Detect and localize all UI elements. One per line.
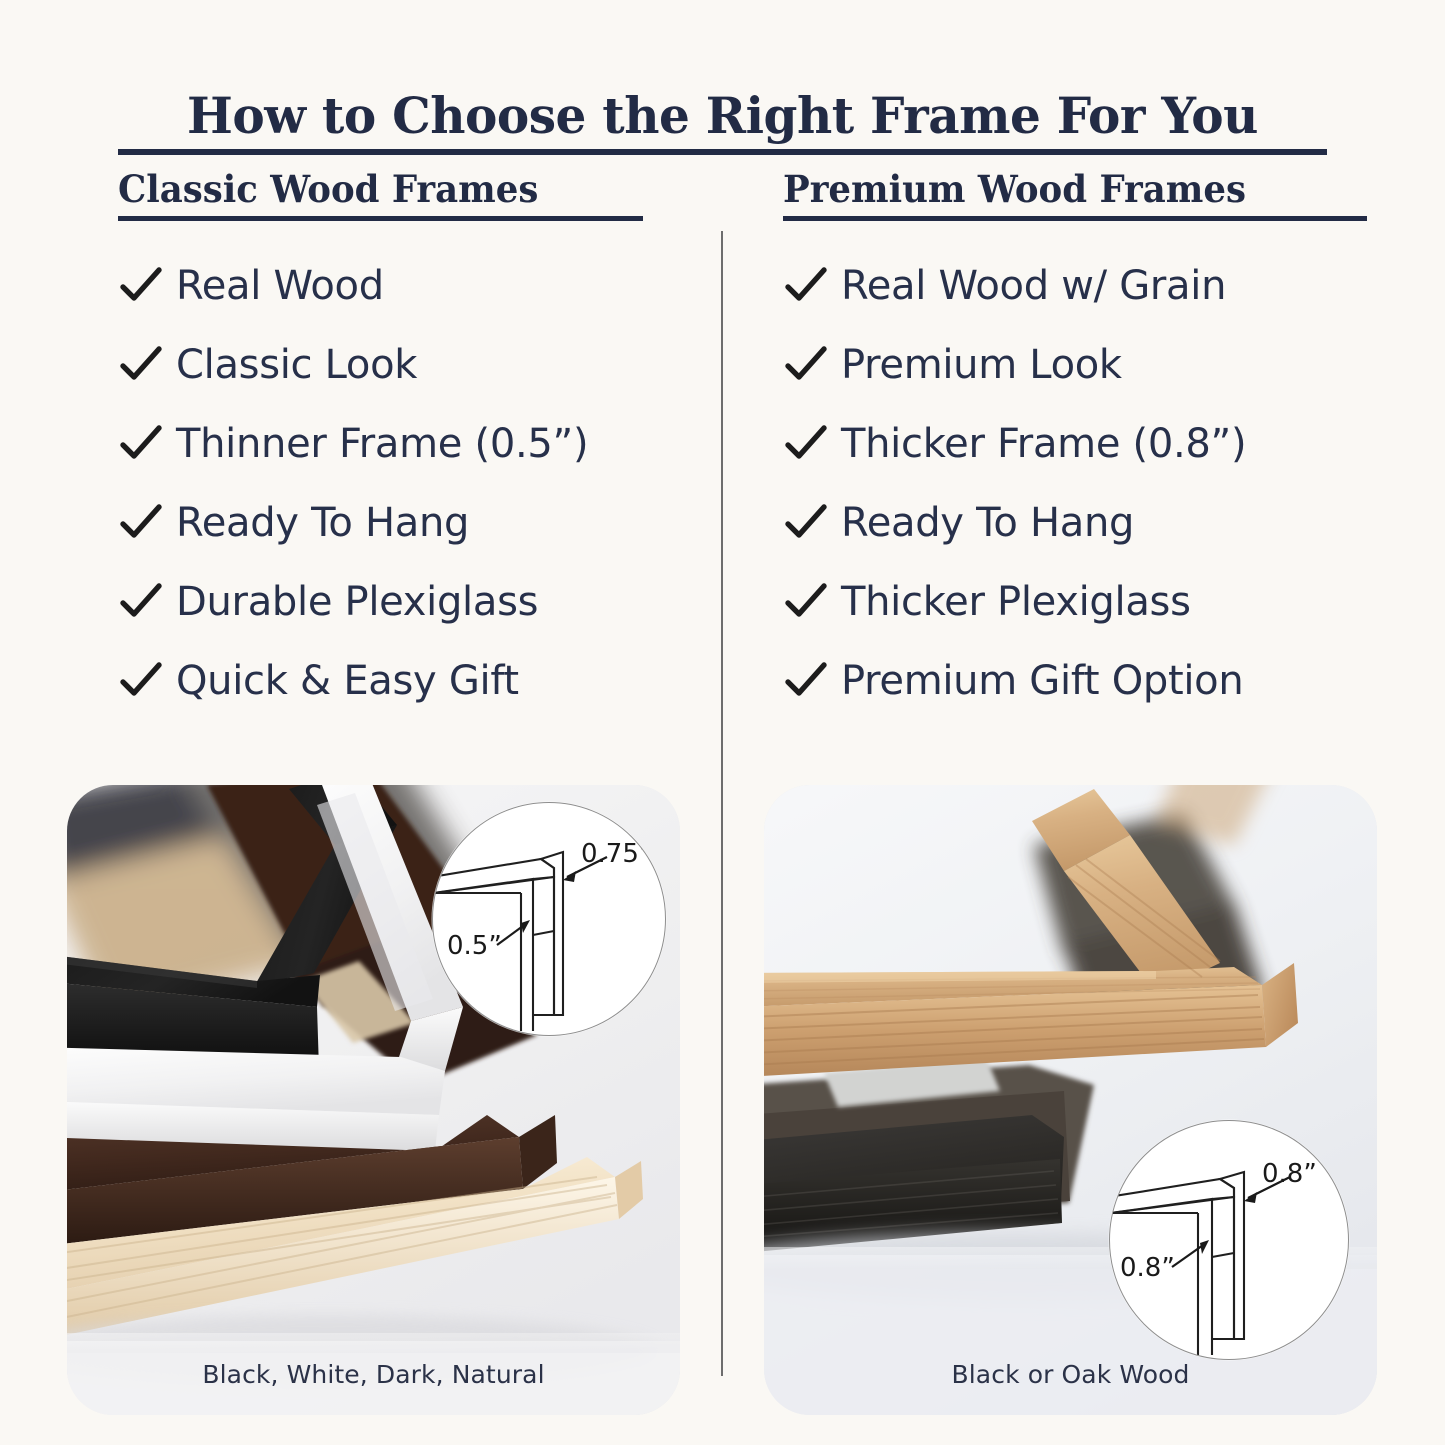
- list-item: Ready To Hang: [783, 484, 1368, 563]
- feature-label: Durable Plexiglass: [176, 579, 538, 625]
- diagram-depth-label-classic: 0.75”: [581, 839, 652, 869]
- list-item: Quick & Easy Gift: [118, 642, 658, 721]
- frame-dimension-diagram-premium: 0.8” 0.8”: [1109, 1120, 1349, 1360]
- feature-label: Real Wood w/ Grain: [841, 263, 1226, 309]
- list-item: Real Wood: [118, 247, 658, 326]
- list-item: Premium Gift Option: [783, 642, 1368, 721]
- feature-label: Thicker Frame (0.8”): [841, 421, 1246, 467]
- page-title: How to Choose the Right Frame For You: [136, 88, 1309, 143]
- infographic-page: How to Choose the Right Frame For You Cl…: [0, 0, 1445, 1445]
- list-item: Real Wood w/ Grain: [783, 247, 1368, 326]
- checkmark-icon: [783, 658, 829, 704]
- feature-label: Thicker Plexiglass: [841, 579, 1191, 625]
- checkmark-icon: [118, 579, 164, 625]
- feature-label: Ready To Hang: [176, 500, 469, 546]
- column-premium-wood-frames: Premium Wood Frames Real Wood w/ Grain: [783, 168, 1368, 721]
- checkmark-icon: [783, 263, 829, 309]
- feature-label: Classic Look: [176, 342, 417, 388]
- photo-caption-premium: Black or Oak Wood: [764, 1360, 1377, 1389]
- diagram-depth-label-premium: 0.8”: [1262, 1159, 1317, 1189]
- feature-list-classic: Real Wood Classic Look: [118, 247, 658, 721]
- checkmark-icon: [783, 342, 829, 388]
- feature-list-premium: Real Wood w/ Grain Premium Look: [783, 247, 1368, 721]
- feature-label: Premium Look: [841, 342, 1122, 388]
- feature-label: Thinner Frame (0.5”): [176, 421, 588, 467]
- premium-frames-photo: 0.8” 0.8”: [764, 785, 1377, 1415]
- photo-panel-premium: 0.8” 0.8” Black or Oak Wood: [764, 785, 1377, 1415]
- column-heading-underline-premium: [783, 216, 1367, 221]
- checkmark-icon: [118, 500, 164, 546]
- list-item: Premium Look: [783, 326, 1368, 405]
- list-item: Thinner Frame (0.5”): [118, 405, 658, 484]
- classic-frames-photo: 0.75” 0.5”: [67, 785, 680, 1415]
- checkmark-icon: [783, 500, 829, 546]
- diagram-width-label-premium: 0.8”: [1120, 1253, 1175, 1283]
- frame-dimension-diagram-classic: 0.75” 0.5”: [432, 802, 666, 1036]
- checkmark-icon: [783, 579, 829, 625]
- page-title-block: How to Choose the Right Frame For You: [118, 88, 1327, 155]
- column-divider: [721, 231, 723, 1376]
- column-heading-classic: Classic Wood Frames: [118, 168, 636, 211]
- diagram-width-label-classic: 0.5”: [447, 931, 502, 961]
- list-item: Thicker Plexiglass: [783, 563, 1368, 642]
- feature-label: Real Wood: [176, 263, 384, 309]
- list-item: Thicker Frame (0.8”): [783, 405, 1368, 484]
- checkmark-icon: [118, 658, 164, 704]
- list-item: Ready To Hang: [118, 484, 658, 563]
- checkmark-icon: [118, 342, 164, 388]
- list-item: Durable Plexiglass: [118, 563, 658, 642]
- feature-label: Quick & Easy Gift: [176, 658, 519, 704]
- column-classic-wood-frames: Classic Wood Frames Real Wood: [118, 168, 658, 721]
- checkmark-icon: [118, 263, 164, 309]
- feature-label: Ready To Hang: [841, 500, 1134, 546]
- list-item: Classic Look: [118, 326, 658, 405]
- column-heading-premium: Premium Wood Frames: [783, 168, 1345, 211]
- title-underline: [118, 149, 1327, 155]
- photo-caption-classic: Black, White, Dark, Natural: [67, 1360, 680, 1389]
- feature-label: Premium Gift Option: [841, 658, 1243, 704]
- checkmark-icon: [783, 421, 829, 467]
- column-heading-underline-classic: [118, 216, 643, 221]
- photo-panel-classic: 0.75” 0.5” Black, White, Dark, Natural: [67, 785, 680, 1415]
- checkmark-icon: [118, 421, 164, 467]
